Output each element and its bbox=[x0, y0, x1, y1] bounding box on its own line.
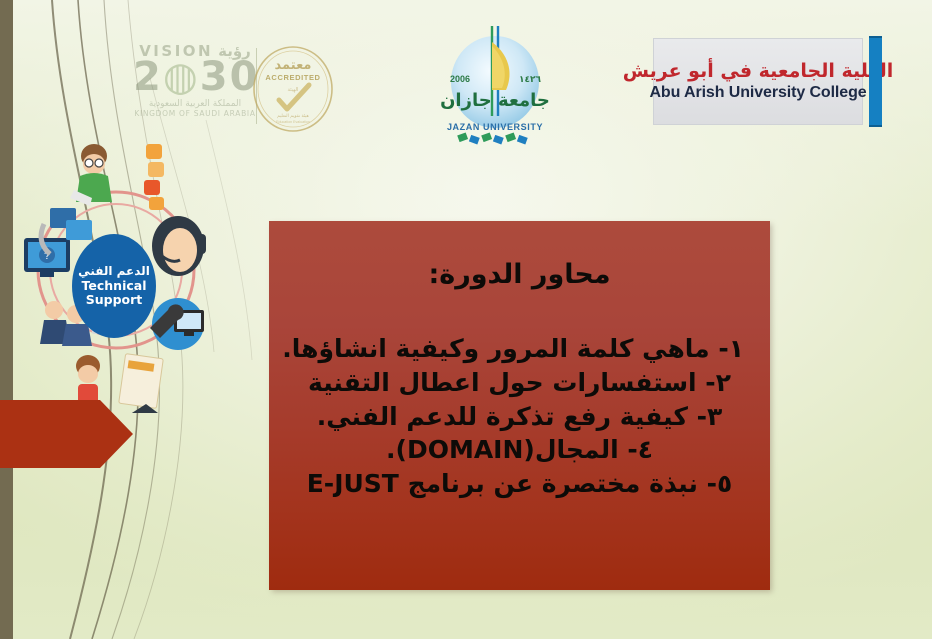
illustration-monitor-wrench bbox=[150, 298, 204, 350]
college-name-banner: الكلية الجامعية في أبو عريش Abu Arish Un… bbox=[653, 38, 863, 125]
vision-logo-kingdom-en: KINGDOM OF SAUDI ARABIA bbox=[133, 109, 257, 118]
illustration-headset-operator bbox=[152, 216, 206, 276]
illustration-icon-cluster bbox=[144, 144, 164, 210]
content-heading: محاور الدورة: bbox=[428, 259, 610, 290]
svg-text:2006: 2006 bbox=[450, 74, 470, 84]
jazan-university-logo: 2006 ١٤٢٦ جامعة جازان JAZAN UNIVERSITY bbox=[434, 20, 556, 146]
course-topics-list: ١- ماهي كلمة المرور وكيفية انشاؤها. ٢- ا… bbox=[295, 332, 744, 501]
technical-support-label-line1: Technical bbox=[82, 279, 147, 293]
list-item: ٤- المجال(DOMAIN). bbox=[295, 433, 744, 467]
accredited-seal-icon: معتمد ACCREDITED الهيئة هيئة تقويم التعل… bbox=[249, 43, 337, 135]
illustration-clipboard bbox=[119, 354, 164, 413]
technical-support-badge: الدعم الفني Technical Support bbox=[72, 234, 156, 338]
svg-text:١٤٢٦: ١٤٢٦ bbox=[519, 75, 541, 85]
content-panel: محاور الدورة: ١- ماهي كلمة المرور وكيفية… bbox=[269, 221, 770, 590]
list-item: ٢- استفسارات حول اعطال التقنية bbox=[295, 366, 744, 400]
presentation-slide: VISION رؤية 2◍30 المملكة العربية السعودي… bbox=[0, 0, 932, 639]
college-name-english: Abu Arish University College bbox=[649, 84, 866, 102]
college-name-arabic: الكلية الجامعية في أبو عريش bbox=[623, 61, 893, 83]
vision-2030-logo: VISION رؤية 2◍30 المملكة العربية السعودي… bbox=[133, 42, 257, 134]
list-item: ٥- نبذة مختصرة عن برنامج E-JUST bbox=[295, 467, 744, 501]
technical-support-label-arabic: الدعم الفني bbox=[78, 265, 150, 278]
technical-support-label-line2: Support bbox=[86, 293, 143, 307]
list-item: ١- ماهي كلمة المرور وكيفية انشاؤها. bbox=[295, 332, 744, 366]
svg-text:Education Evaluation: Education Evaluation bbox=[276, 120, 310, 124]
svg-text:JAZAN UNIVERSITY: JAZAN UNIVERSITY bbox=[447, 122, 543, 132]
blue-accent-bar bbox=[869, 36, 882, 127]
svg-text:معتمد: معتمد bbox=[275, 58, 312, 73]
svg-text:الهيئة: الهيئة bbox=[288, 87, 299, 93]
svg-text:هيئة تقويم التعليم: هيئة تقويم التعليم bbox=[277, 114, 309, 119]
list-item: ٣- كيفية رفع تذكرة للدعم الفني. bbox=[295, 400, 744, 434]
vision-logo-year: 2◍30 bbox=[133, 58, 257, 96]
vision-logo-kingdom-ar: المملكة العربية السعودية bbox=[133, 99, 257, 109]
left-edge-strip bbox=[0, 0, 13, 639]
svg-text:ACCREDITED: ACCREDITED bbox=[265, 73, 320, 82]
illustration-person-laptop bbox=[70, 144, 112, 206]
svg-text:جامعة جازان: جامعة جازان bbox=[440, 90, 550, 111]
illustration-left-monitor: ? bbox=[24, 238, 70, 277]
